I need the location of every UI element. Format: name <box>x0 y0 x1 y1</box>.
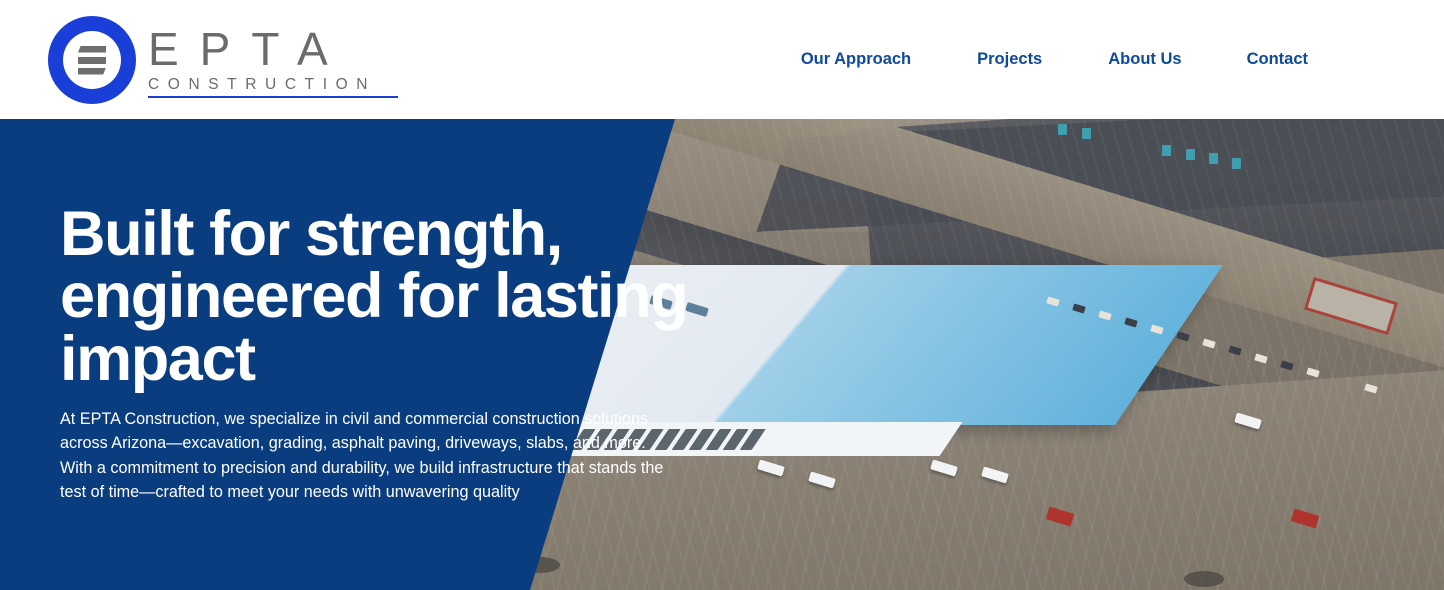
nav-item-contact[interactable]: Contact <box>1247 50 1308 69</box>
brand-logo[interactable]: EPTA CONSTRUCTION <box>48 8 398 112</box>
landing-page: EPTA CONSTRUCTION Our Approach Projects … <box>0 0 1444 590</box>
site-header: EPTA CONSTRUCTION Our Approach Projects … <box>0 0 1444 119</box>
logo-bar-top-icon <box>78 46 106 53</box>
logo-inner-disc <box>63 31 121 89</box>
brand-name: EPTA <box>148 26 398 72</box>
brand-subtitle: CONSTRUCTION <box>148 76 398 93</box>
logo-bar-bottom-icon <box>78 68 106 75</box>
portable-toilet <box>1058 124 1067 135</box>
brand-wordmark: EPTA CONSTRUCTION <box>148 22 398 97</box>
brand-underline <box>148 96 398 98</box>
building-wall-bays <box>540 422 963 456</box>
epta-logo-mark-icon <box>48 16 136 104</box>
portable-toilet <box>1162 145 1171 156</box>
hero-section: Built for strength, engineered for lasti… <box>0 119 1444 590</box>
nav-item-our-approach[interactable]: Our Approach <box>801 50 911 69</box>
portable-toilet <box>1186 149 1195 160</box>
nav-item-about-us[interactable]: About Us <box>1108 50 1181 69</box>
brand-subtitle-wrap: CONSTRUCTION <box>148 76 398 97</box>
warehouse-building-main <box>563 265 1169 425</box>
portable-toilet <box>1232 158 1241 169</box>
logo-bar-middle-icon <box>78 57 106 64</box>
portable-toilet <box>1209 153 1218 164</box>
primary-navigation: Our Approach Projects About Us Contact <box>801 0 1444 119</box>
portable-toilet <box>1082 128 1091 139</box>
nav-item-projects[interactable]: Projects <box>977 50 1042 69</box>
